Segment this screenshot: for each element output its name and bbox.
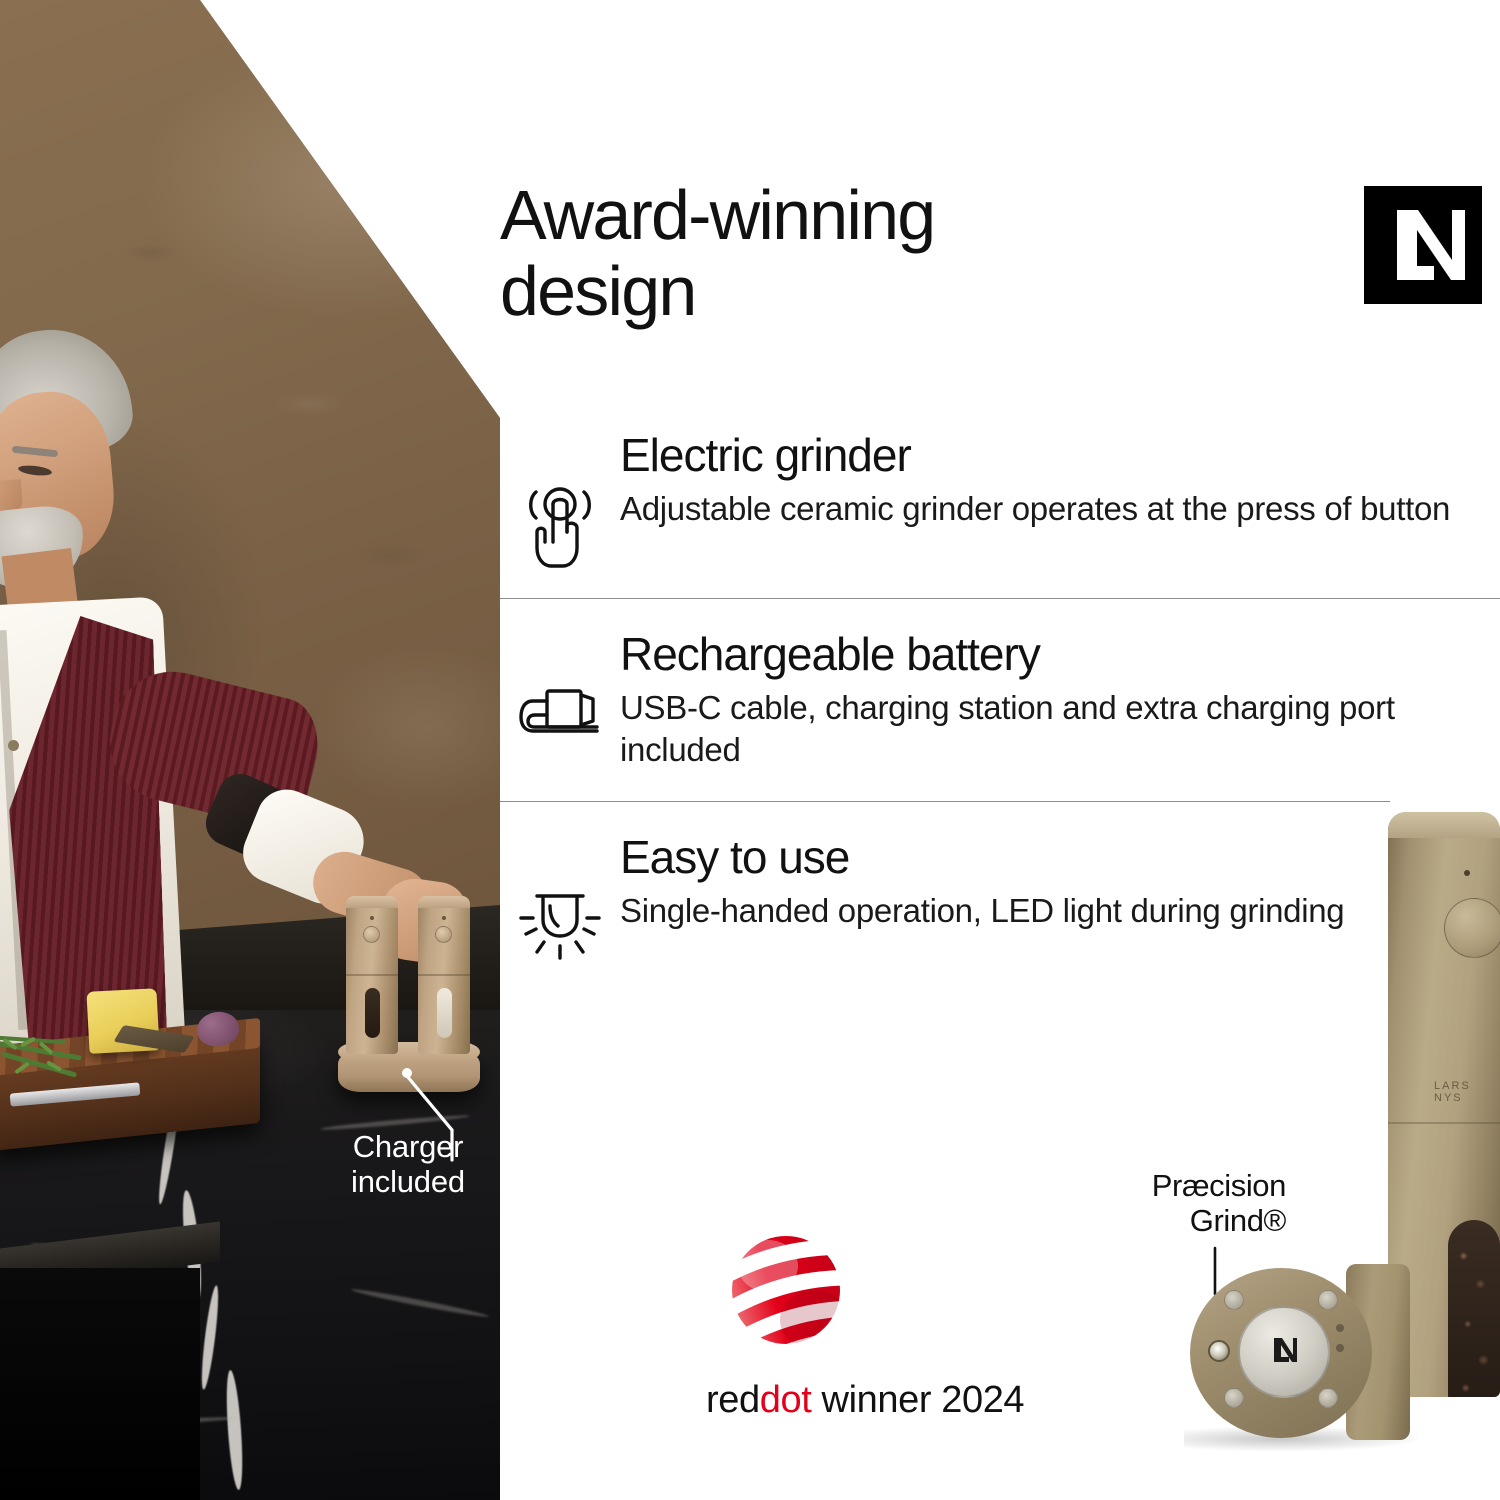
grinder-seam — [418, 974, 470, 976]
grinder-led-dot — [442, 916, 446, 920]
precision-grind-callout: Præcision Grind® — [1076, 1168, 1286, 1239]
base-screw — [1318, 1388, 1338, 1408]
award-word-red: red — [706, 1379, 760, 1421]
feature-title: Electric grinder — [620, 430, 1460, 482]
feature-description: Single-handed operation, LED light durin… — [620, 890, 1460, 932]
award-word-rest: winner 2024 — [811, 1379, 1024, 1421]
reddot-sphere-icon — [728, 1232, 844, 1348]
award-word-dot: dot — [760, 1379, 812, 1421]
charger-callout-line2: included — [318, 1165, 498, 1200]
charger-included-callout: Charger included — [318, 1130, 498, 1199]
grinder-cap — [1388, 812, 1500, 838]
precision-callout-line1: Præcision — [1076, 1168, 1286, 1203]
feature-list: Electric grinder Adjustable ceramic grin… — [500, 430, 1500, 964]
feature-item-electric-grinder: Electric grinder Adjustable ceramic grin… — [500, 430, 1500, 568]
product-feature-graphic: Charger included Award-winning design — [0, 0, 1500, 1500]
brand-logo — [1364, 186, 1482, 304]
grinder-salt — [418, 896, 470, 1054]
coarseness-indicator-dot — [1336, 1344, 1344, 1352]
base-screw — [1224, 1388, 1244, 1408]
award-caption: reddot winner 2024 — [706, 1379, 1126, 1422]
grinder-brand-engraving: LARS NYS — [1434, 1080, 1500, 1104]
feature-divider — [500, 598, 1500, 599]
grinder-seam — [346, 974, 398, 976]
tap-press-finger-icon — [523, 482, 597, 568]
grinder-seam — [1388, 1122, 1500, 1124]
feature-title: Easy to use — [620, 832, 1460, 884]
grinder-cap — [418, 896, 470, 908]
grinder-window-peppercorns — [1448, 1220, 1500, 1397]
ln-monogram-icon — [1266, 1332, 1302, 1372]
feature-icon-wrap — [500, 629, 620, 755]
grinder-led-dot — [1464, 870, 1470, 876]
feature-divider — [500, 801, 1390, 802]
base-screw — [1318, 1290, 1338, 1310]
award-badge: reddot winner 2024 — [706, 1232, 1126, 1422]
base-led — [1208, 1340, 1230, 1362]
lifestyle-photo: Charger included — [0, 0, 500, 1500]
precision-callout-line2: Grind® — [1076, 1203, 1286, 1238]
grinder-power-button — [1444, 898, 1500, 958]
grinder-power-button — [435, 926, 452, 943]
ln-monogram-icon — [1364, 186, 1482, 304]
base-screw — [1224, 1290, 1244, 1310]
feature-title: Rechargeable battery — [620, 629, 1460, 681]
grinder-window-salt — [437, 988, 452, 1038]
page-title: Award-winning design — [500, 178, 1140, 329]
feature-icon-wrap — [500, 430, 620, 568]
photo-person — [0, 330, 300, 1050]
grinder-window-peppercorns — [365, 988, 380, 1038]
feature-item-easy-to-use: Easy to use Single-handed operation, LED… — [500, 832, 1500, 964]
charger-callout-line1: Charger — [318, 1130, 498, 1165]
shirt-button — [8, 740, 19, 751]
feature-description: Adjustable ceramic grinder operates at t… — [620, 488, 1460, 530]
feature-item-rechargeable-battery: Rechargeable battery USB-C cable, chargi… — [500, 629, 1500, 771]
feature-description: USB-C cable, charging station and extra … — [620, 687, 1460, 771]
feature-text: Rechargeable battery USB-C cable, chargi… — [620, 629, 1500, 771]
grinder-cap — [346, 896, 398, 908]
usb-c-cable-icon — [517, 681, 603, 755]
feature-text: Electric grinder Adjustable ceramic grin… — [620, 430, 1500, 530]
feature-text: Easy to use Single-handed operation, LED… — [620, 832, 1500, 932]
precision-grind-adjustment-dial[interactable] — [1238, 1306, 1330, 1398]
counter-underside — [0, 1268, 200, 1500]
grinder-led-dot — [370, 916, 374, 920]
led-light-icon — [517, 884, 603, 964]
grinder-power-button — [363, 926, 380, 943]
rosemary-leaf — [14, 1062, 29, 1075]
rosemary-sprigs — [0, 1038, 88, 1082]
coarseness-indicator-dot — [1336, 1324, 1344, 1332]
feature-icon-wrap — [500, 832, 620, 964]
grinder-pepper — [346, 896, 398, 1054]
product-grinder-base-closeup — [1190, 1268, 1372, 1446]
